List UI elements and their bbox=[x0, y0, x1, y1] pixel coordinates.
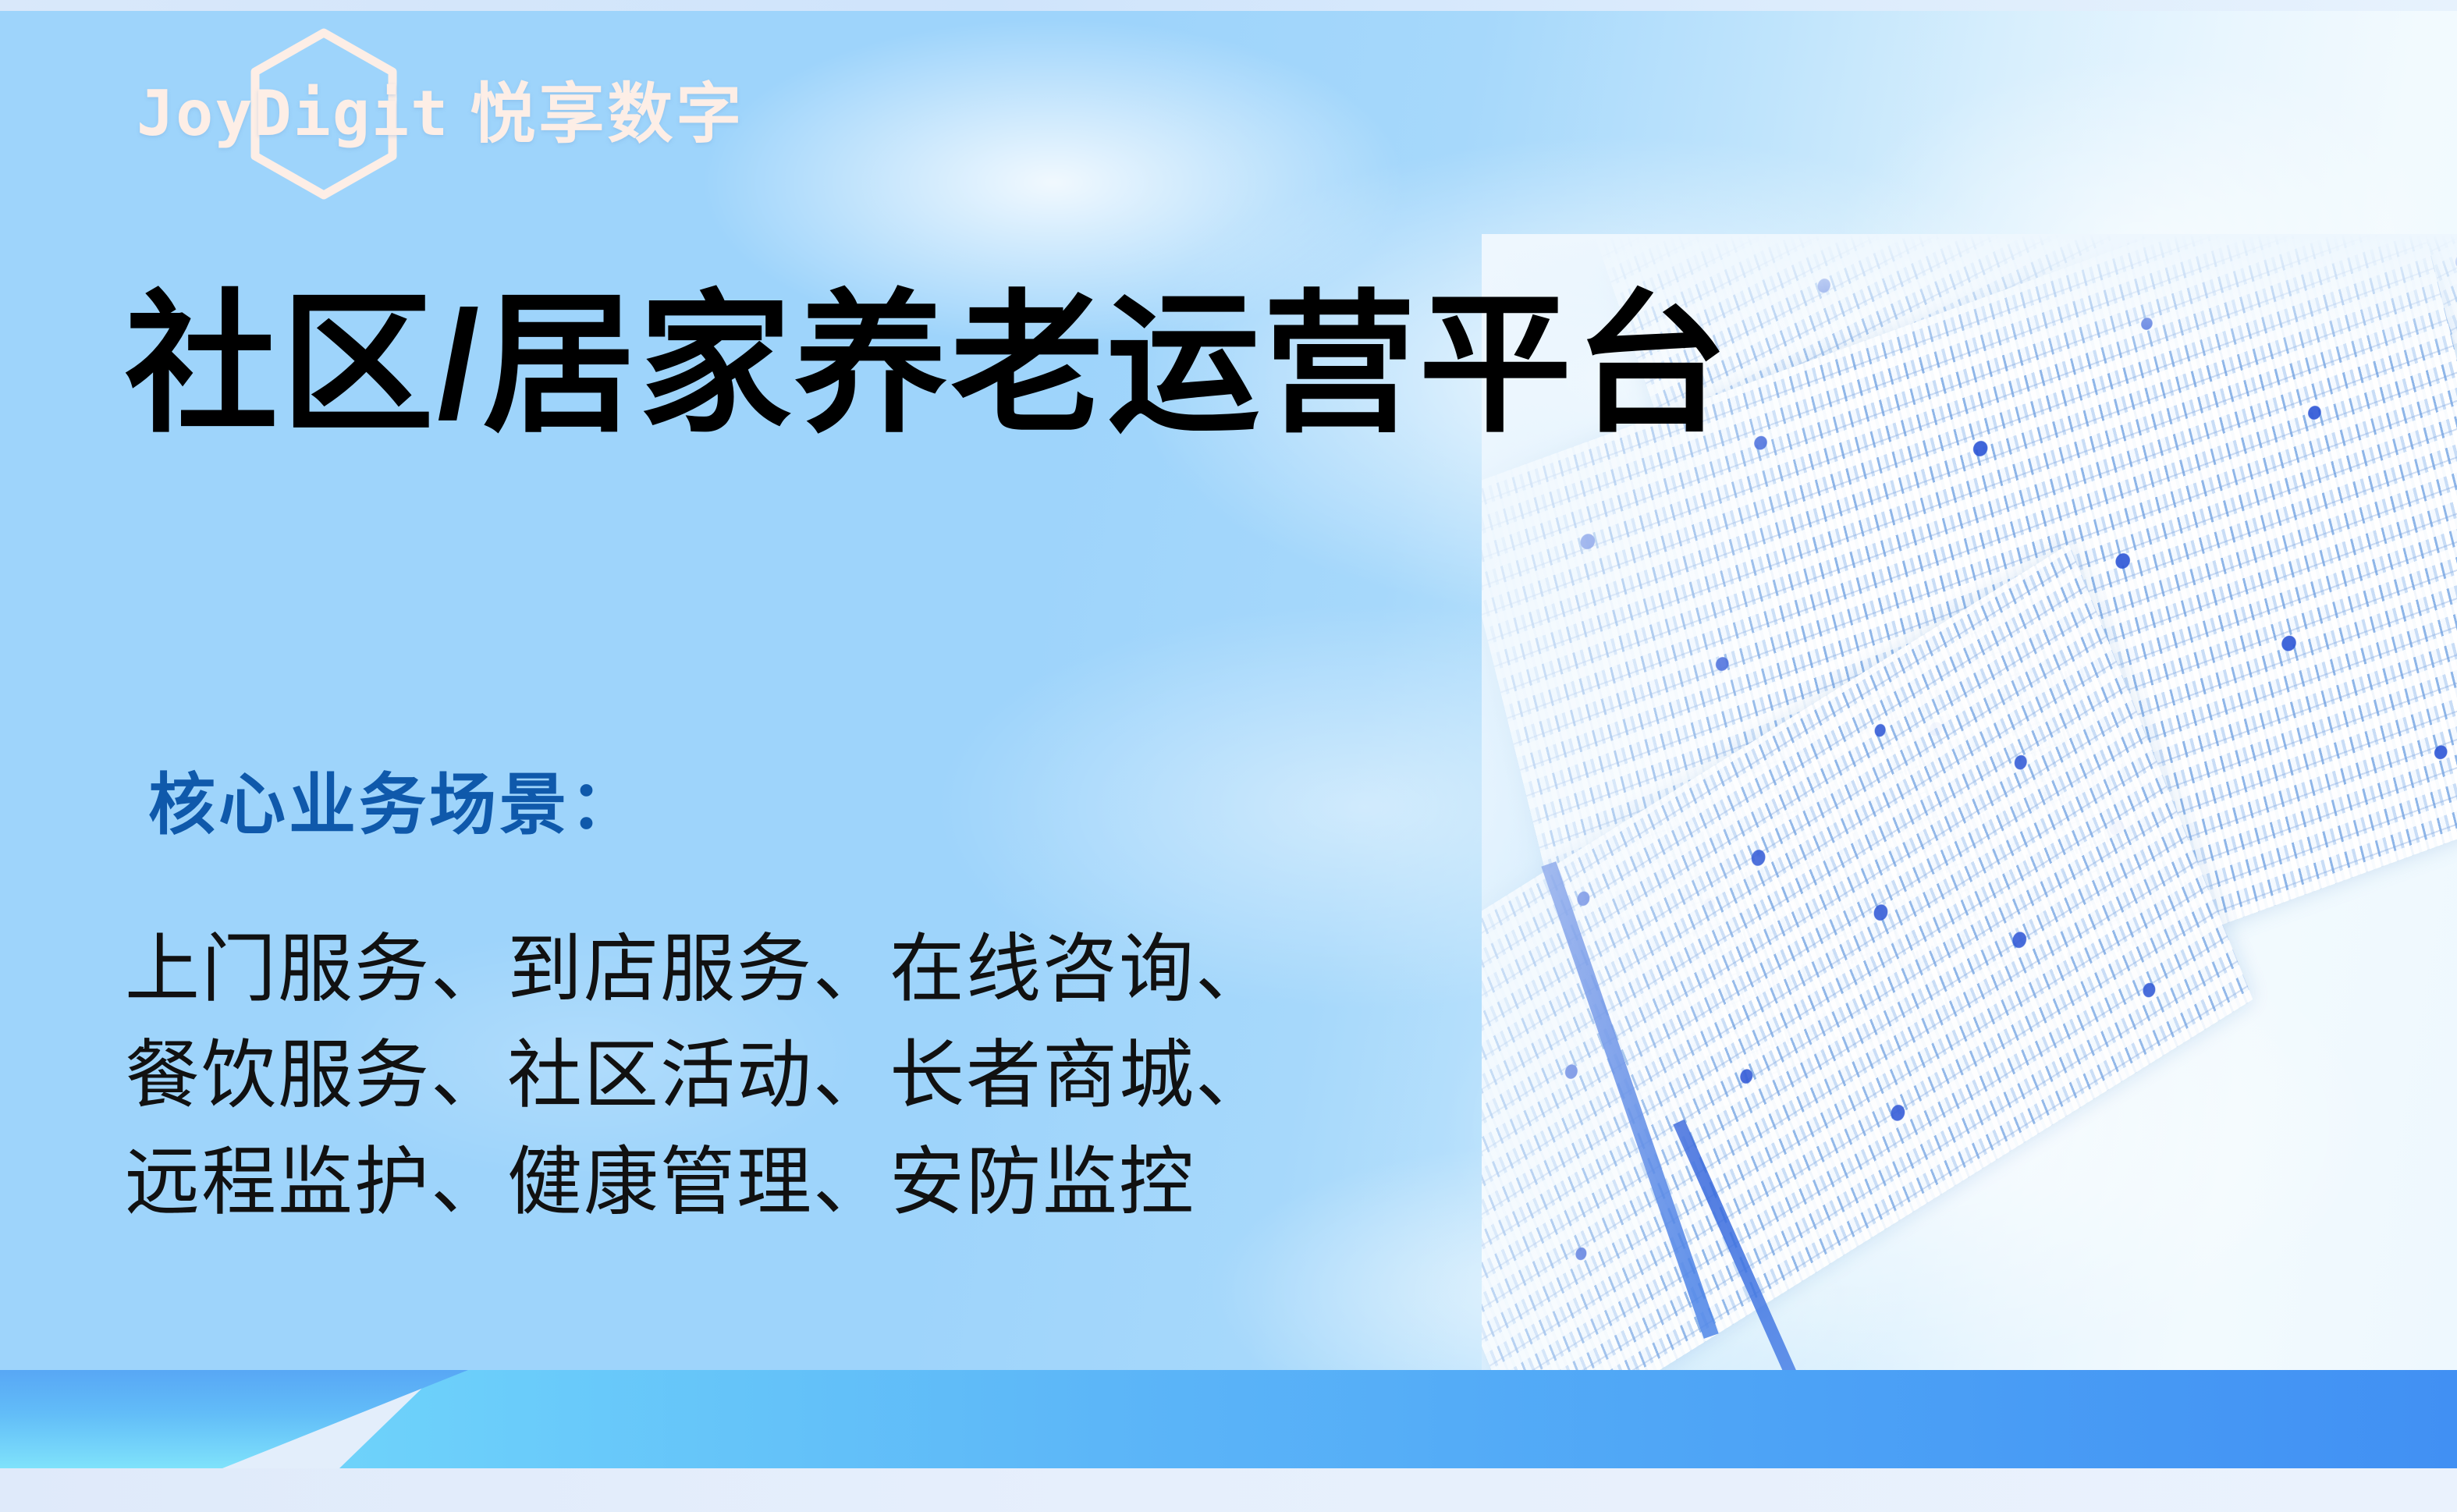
logo-wordmark-cn: 悦享数字 bbox=[470, 81, 744, 147]
brand-logo[interactable]: JoyDigit 悦享数字 bbox=[137, 67, 744, 161]
scenario-list: 上门服务、到店服务、在线咨询、 餐饮服务、社区活动、长者商城、 远程监护、健康管… bbox=[125, 917, 1272, 1236]
scenario-line: 远程监护、健康管理、安防监控 bbox=[125, 1130, 1272, 1236]
bottom-decorative-band bbox=[0, 1370, 2457, 1512]
scenario-line: 上门服务、到店服务、在线咨询、 bbox=[125, 917, 1272, 1023]
band-base-strip bbox=[0, 1468, 2457, 1512]
top-edge-strip bbox=[0, 0, 2457, 11]
logo-wordmark-en: JoyDigit bbox=[137, 83, 449, 145]
page-title: 社区/居家养老运营平台 bbox=[125, 277, 1731, 453]
slide-canvas: JoyDigit 悦享数字 社区/居家养老运营平台 核心业务场景： 上门服务、到… bbox=[0, 0, 2457, 1512]
section-subtitle: 核心业务场景： bbox=[148, 768, 640, 843]
scenario-line: 餐饮服务、社区活动、长者商城、 bbox=[125, 1023, 1272, 1129]
